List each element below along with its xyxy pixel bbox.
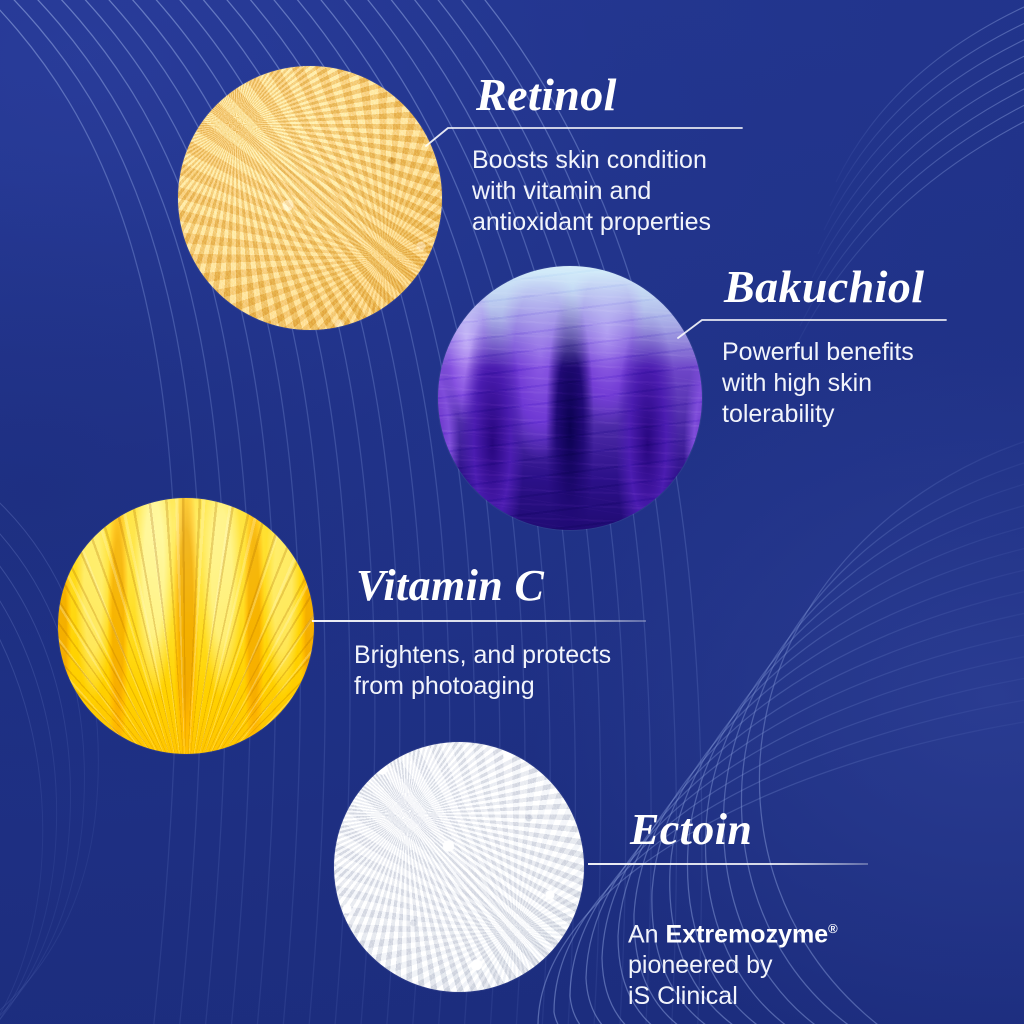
retinol-title: Retinol [476,72,892,118]
registered-trademark-icon: ® [828,921,838,936]
vitamin-c-label: Vitamin C [356,564,756,608]
ectoin-grain-overlay [334,742,584,992]
ingredient-infographic: Retinol Boosts skin condition with vitam… [0,0,1024,1024]
retinol-label: Retinol [472,72,892,118]
ectoin-title: Ectoin [630,808,970,852]
vitamin-c-citrus-swatch [58,498,314,754]
ectoin-powder-swatch [334,742,584,992]
ectoin-connector [588,863,868,865]
retinol-powder-swatch [178,66,442,330]
vitamin-c-description: Brightens, and protects from photoaging [354,640,684,702]
vitamin-c-title: Vitamin C [356,564,756,608]
ectoin-label: Ectoin [630,808,970,852]
ectoin-extremozyme-trademark-term: Extremozyme [666,920,829,948]
retinol-grain-overlay [178,66,442,330]
bakuchiol-petal-streaks [438,266,702,530]
bakuchiol-label: Bakuchiol [722,264,1022,310]
ectoin-description: An Extremozyme® pioneered by iS Clinical [628,882,978,1012]
bakuchiol-flower-swatch [438,266,702,530]
bakuchiol-title: Bakuchiol [724,264,1022,310]
retinol-description: Boosts skin condition with vitamin and a… [472,145,802,238]
bakuchiol-description: Powerful benefits with high skin tolerab… [722,337,1012,430]
vitamin-c-connector [312,620,646,622]
vitamin-c-vein-overlay [58,498,314,754]
ectoin-description-suffix: pioneered by iS Clinical [628,951,773,1010]
ectoin-description-prefix: An [628,920,666,948]
